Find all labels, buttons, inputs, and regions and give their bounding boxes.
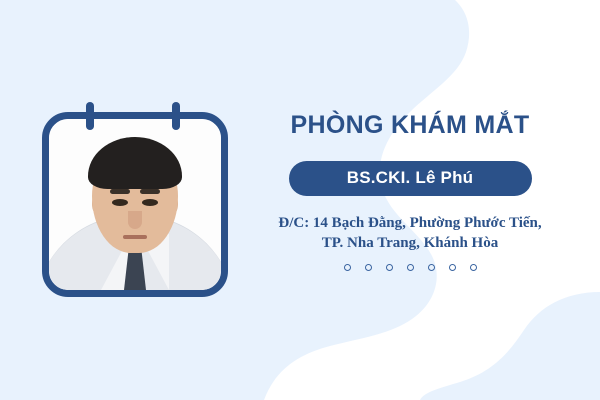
business-card: PHÒNG KHÁM MẮT BS.CKI. Lê Phú Đ/C: 14 Bạ… xyxy=(0,0,600,400)
separator-dot xyxy=(407,264,414,271)
doctor-name-badge: BS.CKI. Lê Phú xyxy=(289,161,532,196)
portrait-nose xyxy=(128,211,142,229)
portrait-hair xyxy=(88,137,182,189)
portrait-eyebrow-right xyxy=(140,189,160,194)
dot-separator xyxy=(250,264,570,271)
portrait-mouth xyxy=(123,235,147,239)
blob-bottom-right-shape xyxy=(420,292,600,400)
separator-dot xyxy=(428,264,435,271)
separator-dot xyxy=(449,264,456,271)
separator-dot xyxy=(470,264,477,271)
separator-dot xyxy=(386,264,393,271)
clinic-title: PHÒNG KHÁM MẮT xyxy=(250,112,570,140)
portrait-eye-left xyxy=(112,199,128,206)
card-content: PHÒNG KHÁM MẮT BS.CKI. Lê Phú Đ/C: 14 Bạ… xyxy=(250,112,570,271)
frame-hanger-tab-left xyxy=(86,102,94,130)
separator-dot xyxy=(344,264,351,271)
doctor-photo xyxy=(49,119,221,290)
separator-dot xyxy=(365,264,372,271)
clinic-address: Đ/C: 14 Bạch Đằng, Phường Phước Tiến, TP… xyxy=(250,213,570,254)
frame-hanger-tab-right xyxy=(172,102,180,130)
address-line-2: TP. Nha Trang, Khánh Hòa xyxy=(250,233,570,254)
portrait-eye-right xyxy=(142,199,158,206)
portrait-eyebrow-left xyxy=(110,189,130,194)
address-line-1: Đ/C: 14 Bạch Đằng, Phường Phước Tiến, xyxy=(250,213,570,234)
doctor-photo-frame xyxy=(42,112,228,297)
portrait-illustration xyxy=(49,119,221,290)
